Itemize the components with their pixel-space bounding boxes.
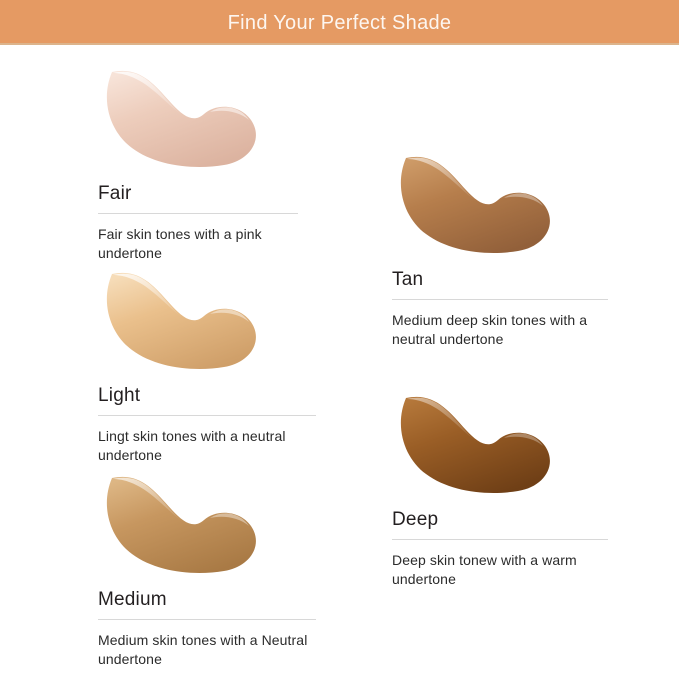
- swatch-light: [98, 264, 266, 376]
- shade-description-fair: Fair skin tones with a pink undertone: [98, 225, 298, 263]
- shade-divider-fair: [98, 213, 298, 214]
- swatch-fair: [98, 62, 266, 174]
- shade-card-light[interactable]: Light Lingt skin tones with a neutral un…: [98, 264, 316, 465]
- shade-description-light: Lingt skin tones with a neutral underton…: [98, 427, 316, 465]
- shade-name-medium: Medium: [98, 590, 316, 609]
- shade-name-deep: Deep: [392, 510, 608, 529]
- page-title: Find Your Perfect Shade: [228, 13, 452, 33]
- shade-divider-medium: [98, 619, 316, 620]
- shade-name-tan: Tan: [392, 270, 608, 289]
- shade-description-deep: Deep skin tonew with a warm undertone: [392, 551, 608, 589]
- shade-name-fair: Fair: [98, 184, 298, 203]
- swatch-tan: [392, 148, 560, 260]
- swatch-medium: [98, 468, 266, 580]
- shade-card-deep[interactable]: Deep Deep skin tonew with a warm underto…: [392, 388, 608, 589]
- shade-card-tan[interactable]: Tan Medium deep skin tones with a neutra…: [392, 148, 608, 349]
- shade-name-light: Light: [98, 386, 316, 405]
- shade-description-tan: Medium deep skin tones with a neutral un…: [392, 311, 608, 349]
- shade-description-medium: Medium skin tones with a Neutral underto…: [98, 631, 316, 669]
- header-banner: Find Your Perfect Shade: [0, 0, 679, 45]
- shade-divider-tan: [392, 299, 608, 300]
- shade-divider-deep: [392, 539, 608, 540]
- shade-card-medium[interactable]: Medium Medium skin tones with a Neutral …: [98, 468, 316, 669]
- shade-divider-light: [98, 415, 316, 416]
- shade-card-fair[interactable]: Fair Fair skin tones with a pink underto…: [98, 62, 298, 263]
- swatch-deep: [392, 388, 560, 500]
